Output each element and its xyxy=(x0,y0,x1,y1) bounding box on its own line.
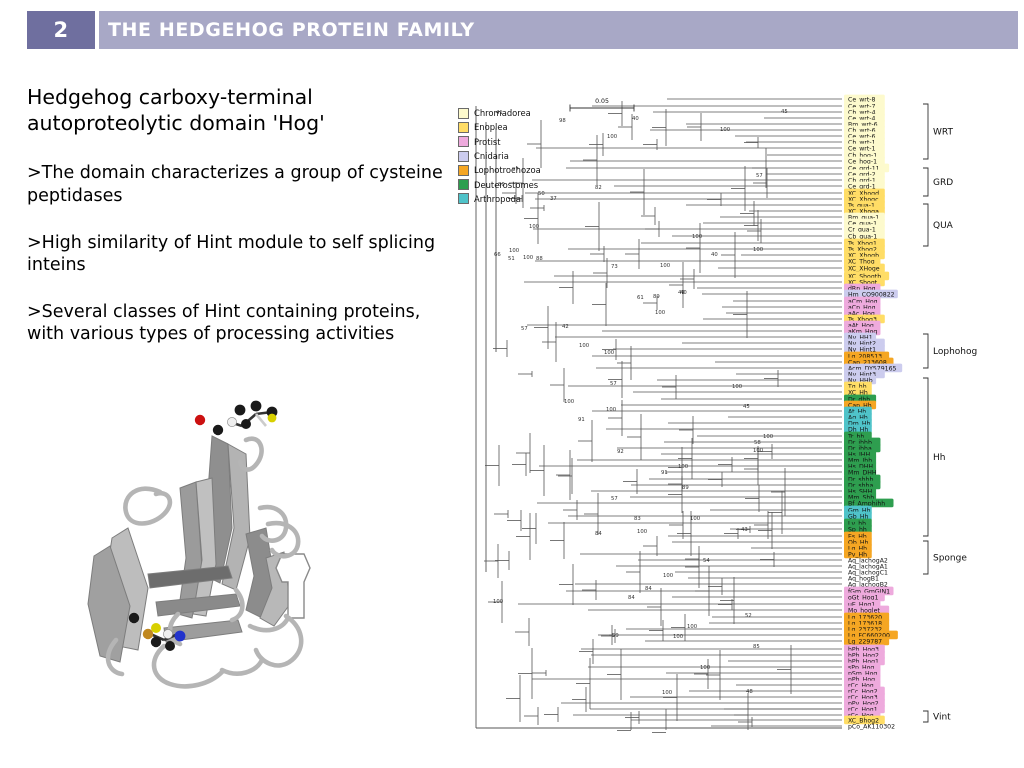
bootstrap-value: 100 xyxy=(606,407,617,413)
bullet-point-2: >High similarity of Hint module to self … xyxy=(27,232,457,276)
group-bracket xyxy=(923,104,928,159)
bootstrap-value: 100 xyxy=(753,448,764,454)
bootstrap-value: 52 xyxy=(745,613,752,619)
bootstrap-value: 100 xyxy=(753,247,764,253)
bootstrap-value: 100 xyxy=(604,350,615,356)
bootstrap-value: 49 xyxy=(678,290,685,296)
bullet-point-1: >The domain characterizes a group of cys… xyxy=(27,162,457,206)
tree-legend: ChromadoreaEnopleaProtistCnidariaLophotr… xyxy=(458,106,541,206)
group-bracket xyxy=(923,541,928,574)
bootstrap-value: 92 xyxy=(617,449,624,455)
legend-item-cnidaria: Cnidaria xyxy=(458,149,541,163)
legend-item-label: Chromadorea xyxy=(474,108,531,118)
bootstrap-value: 100 xyxy=(732,384,743,390)
legend-swatch-icon xyxy=(458,151,469,162)
legend-swatch-icon xyxy=(458,165,469,176)
page-title: THE HEDGEHOG PROTEIN FAMILY xyxy=(108,11,475,49)
sulfur-atom xyxy=(268,414,277,423)
bootstrap-value: 57 xyxy=(611,496,618,502)
bootstrap-value: 100 xyxy=(529,224,540,230)
legend-item-label: Arthropoda xyxy=(474,194,521,204)
taxon-label: pCo_AK110302 xyxy=(848,724,895,731)
bootstrap-value: 100 xyxy=(678,464,689,470)
bootstrap-value: 100 xyxy=(687,624,698,630)
bootstrap-value: 100 xyxy=(564,399,575,405)
bootstrap-value: 100 xyxy=(663,573,674,579)
legend-item-label: Cnidaria xyxy=(474,151,509,161)
legend-swatch-icon xyxy=(458,122,469,133)
legend-item-arthropoda: Arthropoda xyxy=(458,192,541,206)
bootstrap-value: 45 xyxy=(781,109,788,115)
legend-item-label: Deuterostomes xyxy=(474,180,538,190)
group-bracket-label: GRD xyxy=(933,178,953,188)
protein-structure-image xyxy=(60,378,355,723)
phylogenetic-tree-figure: ChromadoreaEnopleaProtistCnidariaLophotr… xyxy=(458,92,1018,737)
bootstrap-value: 89 xyxy=(682,485,689,491)
bootstrap-value: 100 xyxy=(673,634,684,640)
group-bracket-label: Vint xyxy=(933,713,951,723)
group-bracket-label: Sponge xyxy=(933,554,967,564)
legend-swatch-icon xyxy=(458,136,469,147)
bootstrap-value: 100 xyxy=(690,516,701,522)
legend-item-protist: Protist xyxy=(458,135,541,149)
ribbon-diagram-svg xyxy=(60,378,355,723)
bootstrap-value: 100 xyxy=(720,127,731,133)
bootstrap-value: 91 xyxy=(578,417,585,423)
bootstrap-value: 58 xyxy=(754,440,761,446)
legend-swatch-icon xyxy=(458,179,469,190)
group-bracket-label: WRT xyxy=(933,128,953,138)
content-heading: Hedgehog carboxy-terminal autoproteolyti… xyxy=(27,84,457,136)
bootstrap-value: 45 xyxy=(743,404,750,410)
legend-item-label: Lophotrochozoa xyxy=(474,165,541,175)
tree-svg: Ce_wrt-8Ce_wrt-7Cb_wrt-4Ce_wrt-4Bm_wrt-6… xyxy=(458,92,1018,737)
bootstrap-value: 43 xyxy=(741,527,748,533)
bootstrap-value: 100 xyxy=(662,690,673,696)
oxygen-atom xyxy=(195,415,205,425)
legend-item-deuterostomes: Deuterostomes xyxy=(458,177,541,191)
bootstrap-value: 61 xyxy=(637,295,644,301)
bootstrap-value: 100 xyxy=(763,434,774,440)
bootstrap-value: 73 xyxy=(611,264,618,270)
bootstrap-value: 51 xyxy=(508,256,515,262)
legend-item-enoplea: Enoplea xyxy=(458,120,541,134)
bootstrap-value: 40 xyxy=(632,116,639,122)
bootstrap-value: 100 xyxy=(692,234,703,240)
bootstrap-value: 40 xyxy=(711,252,718,258)
bootstrap-value: 91 xyxy=(661,470,668,476)
bootstrap-value: 85 xyxy=(753,644,760,650)
group-bracket xyxy=(923,204,928,246)
bootstrap-value: 100 xyxy=(700,665,711,671)
bootstrap-value: 100 xyxy=(660,263,671,269)
slide-header: 2 THE HEDGEHOG PROTEIN FAMILY xyxy=(0,11,1024,49)
content-text-column: Hedgehog carboxy-terminal autoproteolyti… xyxy=(27,84,457,370)
legend-swatch-icon xyxy=(458,108,469,119)
bootstrap-value: 84 xyxy=(595,531,602,537)
bullet-point-3: >Several classes of Hint containing prot… xyxy=(27,301,457,345)
group-bracket xyxy=(923,168,928,196)
bootstrap-value: 100 xyxy=(607,134,618,140)
group-bracket xyxy=(923,334,928,368)
group-bracket xyxy=(923,378,928,536)
bootstrap-value: 84 xyxy=(628,595,635,601)
legend-item-chromadorea: Chromadorea xyxy=(458,106,541,120)
legend-item-lophotrochozoa: Lophotrochozoa xyxy=(458,163,541,177)
bootstrap-value: 54 xyxy=(703,558,710,564)
ball-and-stick-residue-top xyxy=(195,401,278,436)
bootstrap-value: 100 xyxy=(509,248,520,254)
scale-bar-label: 0.05 xyxy=(595,98,609,105)
nitrogen-atom xyxy=(175,631,186,642)
group-bracket xyxy=(923,711,928,722)
bootstrap-value: 100 xyxy=(523,255,534,261)
legend-item-label: Protist xyxy=(474,137,501,147)
bootstrap-value: 59 xyxy=(612,633,619,639)
bootstrap-value: 98 xyxy=(559,118,566,124)
bootstrap-value: 100 xyxy=(579,343,590,349)
bootstrap-value: 100 xyxy=(637,529,648,535)
bootstrap-value: 82 xyxy=(595,185,602,191)
legend-swatch-icon xyxy=(458,193,469,204)
bootstrap-value: 37 xyxy=(550,196,557,202)
bootstrap-value: 83 xyxy=(634,516,641,522)
group-bracket-label: QUA xyxy=(933,221,954,231)
legend-item-label: Enoplea xyxy=(474,122,508,132)
bootstrap-value: 84 xyxy=(645,586,652,592)
group-bracket-label: Hh xyxy=(933,453,945,463)
bootstrap-value: 100 xyxy=(655,310,666,316)
bootstrap-value: 57 xyxy=(521,326,528,332)
bootstrap-value: 57 xyxy=(756,173,763,179)
bootstrap-value: 100 xyxy=(493,599,504,605)
bootstrap-value: 48 xyxy=(746,689,753,695)
bootstrap-value: 88 xyxy=(536,256,543,262)
carbon-atom xyxy=(213,425,223,435)
bootstrap-value: 57 xyxy=(610,381,617,387)
slide-number-badge: 2 xyxy=(27,11,95,49)
bootstrap-value: 89 xyxy=(653,294,660,300)
bootstrap-value: 66 xyxy=(494,252,501,258)
bootstrap-value: 42 xyxy=(562,324,569,330)
group-bracket-label: Lophohog xyxy=(933,347,977,357)
